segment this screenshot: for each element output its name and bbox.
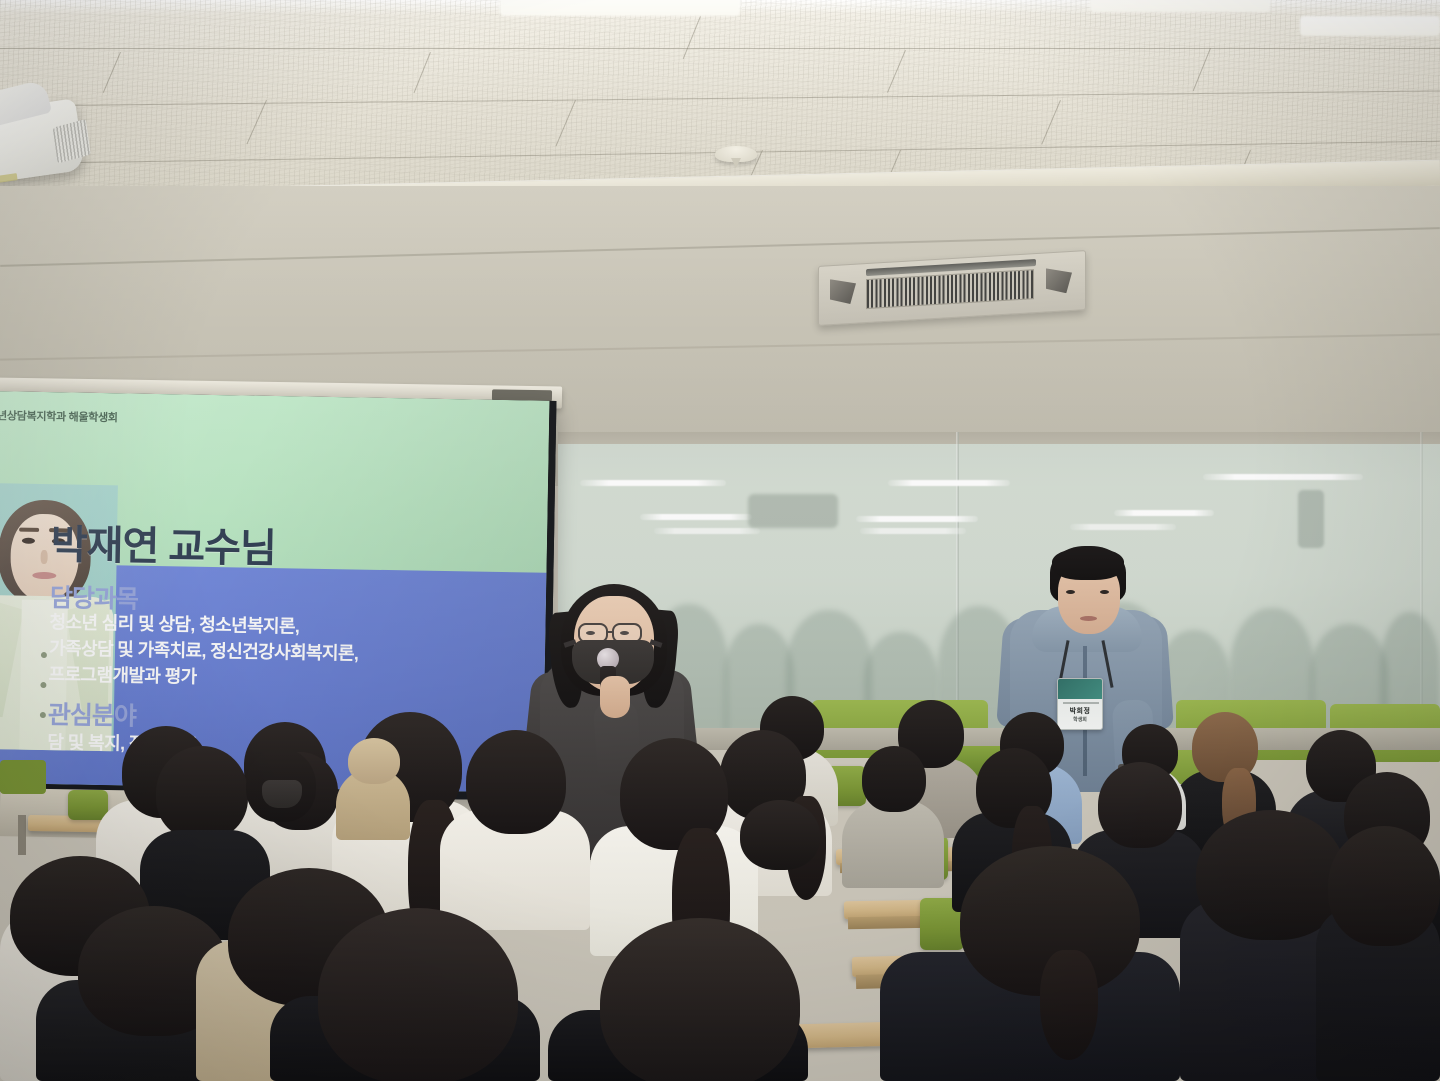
ceiling-light bbox=[500, 0, 740, 16]
audience-head bbox=[862, 746, 926, 812]
audience-head bbox=[348, 738, 400, 784]
slide-title: 박재연 교수님 bbox=[50, 512, 276, 574]
ceiling-projector bbox=[0, 79, 99, 198]
slide-section-courses-body: 청소년 심리 및 상담, 청소년복지론, 가족상담 및 가족치료, 정신건강사회… bbox=[48, 609, 529, 696]
badge-role-text: 학생회 bbox=[1058, 716, 1102, 723]
slide-organization-label: 년상담복지학과 해울학생회 bbox=[0, 407, 118, 425]
audience-head bbox=[318, 908, 518, 1081]
badge-name-text: 박희정 bbox=[1058, 706, 1102, 716]
audience-person bbox=[842, 800, 944, 888]
ceiling-light bbox=[1300, 16, 1440, 36]
chair bbox=[0, 760, 46, 794]
audience-head bbox=[1098, 762, 1182, 848]
ponytail bbox=[1040, 950, 1098, 1060]
lecture-hall-photo: 년상담복지학과 해울학생회 박재연 교수님 담당과목 bbox=[0, 0, 1440, 1081]
audience-head bbox=[600, 918, 800, 1081]
audience-head bbox=[1328, 826, 1440, 946]
ceiling-light bbox=[1090, 0, 1270, 12]
face-mask bbox=[262, 780, 302, 808]
name-badge: 박희정 학생회 bbox=[1057, 678, 1103, 730]
slide-section-interests-label: 관심분야 bbox=[48, 695, 137, 733]
audience-head bbox=[466, 730, 566, 834]
audience-head bbox=[156, 746, 248, 840]
audience-head bbox=[740, 800, 820, 870]
smoke-detector-icon bbox=[715, 146, 757, 162]
chair bbox=[68, 790, 108, 820]
